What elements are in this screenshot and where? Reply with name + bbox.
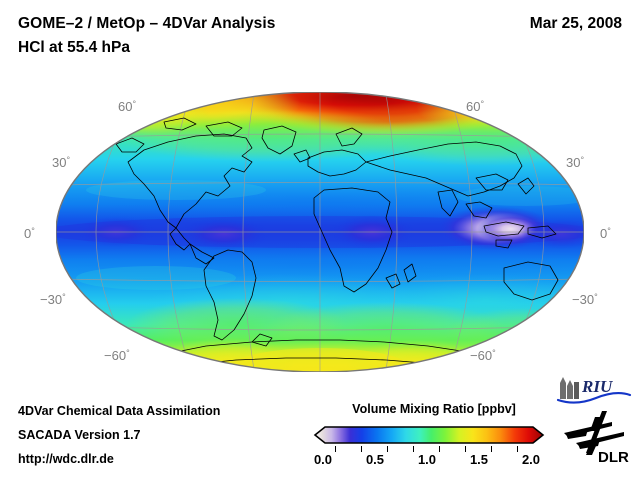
lat-label-right-minus30: −30° <box>572 292 598 307</box>
colorbar-tick-labels: 0.0 0.5 1.0 1.5 2.0 <box>303 452 555 470</box>
riu-tower-icon <box>560 377 579 399</box>
colorbar-tick-2: 1.0 <box>407 452 447 467</box>
dlr-wordmark: DLR <box>598 449 629 465</box>
riu-logo: RIU <box>556 373 632 405</box>
figure-root: GOME–2 / MetOp – 4DVar Analysis HCl at 5… <box>0 0 640 480</box>
footer-url-link[interactable]: http://wdc.dlr.de <box>18 452 114 466</box>
lat-label-right-60: 60° <box>466 99 484 114</box>
riu-logo-svg: RIU <box>556 373 632 405</box>
colorbar <box>313 424 545 446</box>
map-svg <box>56 92 584 372</box>
colorbar-tick-3: 1.5 <box>459 452 499 467</box>
dlr-logo-svg: DLR <box>562 409 632 465</box>
lat-label-left-minus60: −60° <box>104 348 130 363</box>
colorbar-svg <box>313 424 545 446</box>
dlr-logo: DLR <box>562 409 632 465</box>
colorbar-tick-0: 0.0 <box>303 452 343 467</box>
lat-label-right-30: 30° <box>566 155 584 170</box>
lat-label-left-minus30: −30° <box>40 292 66 307</box>
lat-label-left-0: 0° <box>24 226 35 241</box>
lat-label-right-minus60: −60° <box>470 348 496 363</box>
page-title: GOME–2 / MetOp – 4DVar Analysis <box>18 15 276 33</box>
colorbar-tick-1: 0.5 <box>355 452 395 467</box>
page-subtitle: HCl at 55.4 hPa <box>18 39 130 57</box>
lat-label-left-30: 30° <box>52 155 70 170</box>
date-label: Mar 25, 2008 <box>530 15 622 33</box>
footer-version-label: SACADA Version 1.7 <box>18 428 141 442</box>
lat-label-right-0: 0° <box>600 226 611 241</box>
footer-assimilation-label: 4DVar Chemical Data Assimilation <box>18 404 220 418</box>
colorbar-title: Volume Mixing Ratio [ppbv] <box>334 402 534 416</box>
lat-label-left-60: 60° <box>118 99 136 114</box>
colorbar-tick-4: 2.0 <box>511 452 551 467</box>
world-map <box>56 92 584 372</box>
